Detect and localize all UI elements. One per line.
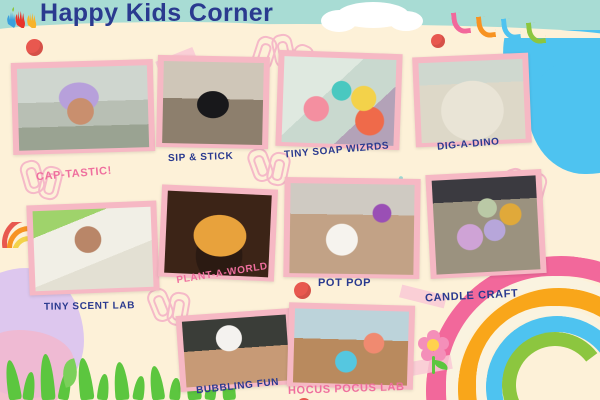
photo-card-hocus-pocus[interactable]: [287, 302, 415, 389]
photo-card-tiny-soap[interactable]: [275, 50, 402, 150]
photo-dinosaur-sand-dig-tray: [418, 59, 525, 143]
photo-card-tiny-scent[interactable]: [26, 201, 159, 296]
red-ball-decoration: [294, 282, 311, 299]
photo-girl-wearing-purple-cap: [17, 65, 149, 151]
photo-card-cap-tastic[interactable]: [11, 59, 156, 155]
cloud-icon: [337, 2, 409, 28]
photo-decorated-clay-flower-pots: [289, 183, 414, 275]
photo-card-candle-craft[interactable]: [425, 169, 546, 279]
photo-science-experiment-beakers: [293, 308, 409, 385]
photo-card-dig-a-dino[interactable]: [412, 53, 532, 148]
label-sip-stick: SIP & STICK: [168, 151, 234, 164]
label-pot-pop: POT POP: [318, 277, 371, 289]
photo-card-sip-stick[interactable]: [156, 55, 270, 149]
red-ball-decoration: [26, 39, 43, 56]
photo-colourful-popsicle-soaps: [281, 56, 396, 146]
photo-girl-in-lab-coat-mixing: [33, 207, 154, 291]
handprints-logo: [5, 4, 39, 28]
poster-canvas: Happy Kids Corner: [0, 0, 600, 400]
photo-poured-tin-candles: [432, 175, 541, 274]
flower-sticker-icon: [418, 330, 448, 360]
red-ball-decoration: [431, 34, 445, 48]
page-title: Happy Kids Corner: [40, 0, 273, 28]
photo-decorated-black-tumbler: [162, 61, 264, 145]
label-tiny-scent: TINY SCENT LAB: [44, 300, 135, 313]
photo-card-pot-pop[interactable]: [283, 177, 420, 279]
